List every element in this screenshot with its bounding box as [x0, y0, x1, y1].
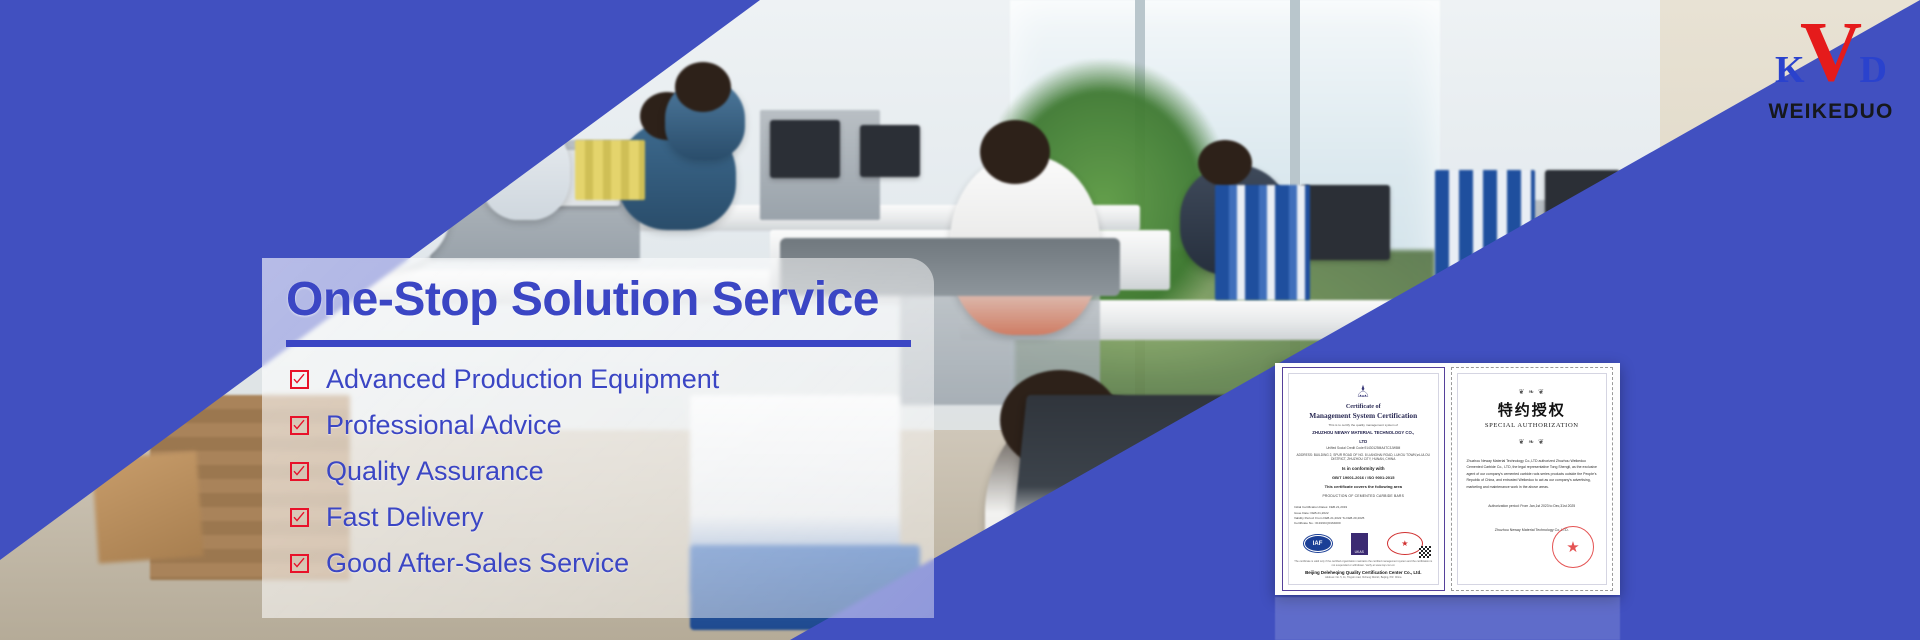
list-item: Fast Delivery [290, 500, 930, 535]
page-title: One-Stop Solution Service [286, 272, 879, 327]
certificate-fineprint: The certificate is valid only if the cer… [1294, 560, 1433, 567]
authorization-body: Zhuzhou Neway Material Technology Co.,LT… [1463, 458, 1602, 490]
certificate-group: Certificate of Management System Certifi… [1275, 363, 1620, 595]
promotional-banner: One-Stop Solution Service Advanced Produ… [0, 0, 1920, 640]
qr-code [1419, 546, 1431, 558]
authorization-period: Authorization period: From Jan,1st 2023 … [1463, 504, 1602, 508]
ukas-accreditation-mark: UKAS [1351, 533, 1368, 555]
logo-letter-k: K [1775, 48, 1805, 92]
certificate-address: ADDRESS: BUILDING 2, SPUR ROAD OF NO. 8 … [1294, 453, 1433, 462]
certificate-management-system: Certificate of Management System Certifi… [1282, 367, 1445, 591]
ornament-divider-icon: ❦ ❧ ❦ [1519, 388, 1546, 396]
ornament-divider-icon: ❦ ❧ ❦ [1519, 438, 1546, 446]
list-item: Quality Assurance [290, 454, 930, 489]
feature-label: Good After-Sales Service [326, 548, 629, 579]
logo-lettermark: V K D [1757, 10, 1905, 94]
list-item: Good After-Sales Service [290, 546, 930, 581]
checkbox-checked-icon [290, 416, 309, 435]
checkbox-checked-icon [290, 508, 309, 527]
feature-label: Fast Delivery [326, 502, 484, 533]
feature-label: Quality Assurance [326, 456, 544, 487]
certificate-reflection [1275, 597, 1620, 640]
authorization-title-cn: 特约授权 [1498, 399, 1566, 420]
star-icon: ★ [1401, 539, 1408, 548]
list-item: Professional Advice [290, 408, 930, 443]
person-head [980, 120, 1050, 184]
logo-letter-d: D [1860, 48, 1887, 92]
certificate-number: Certificate No.: 01919CQ0164000 [1294, 521, 1433, 526]
logo-wordmark: WEIKEDUO [1757, 100, 1905, 124]
certificate-conformity: Is in conformity with [1342, 466, 1385, 471]
certificate-org-line2: LTD [1359, 439, 1367, 444]
star-icon: ★ [1566, 538, 1579, 556]
checkbox-checked-icon [290, 554, 309, 573]
iaf-accreditation-mark: IAF [1304, 535, 1332, 552]
certificate-title-line2: Management System Certification [1309, 411, 1417, 420]
certificate-credit-code: Unified Social Credit Code:91430125MA4TC… [1326, 446, 1400, 450]
feature-label: Professional Advice [326, 410, 562, 441]
certificate-coverage: This certificate covers the following ar… [1325, 484, 1402, 489]
certificate-issuer: Beijing Deleheqing Quality Certification… [1305, 570, 1421, 575]
certificate-title-line1: Certificate of [1346, 403, 1381, 411]
feature-label: Advanced Production Equipment [326, 364, 719, 395]
certificate-special-authorization: ❦ ❧ ❦ 特约授权 SPECIAL AUTHORIZATION ❦ ❧ ❦ Z… [1451, 367, 1614, 591]
checkbox-checked-icon [290, 370, 309, 389]
monitor [1300, 185, 1390, 260]
sticky-notes [575, 140, 645, 200]
title-divider [286, 340, 911, 347]
monitor [770, 120, 840, 178]
certificate-subtitle: This is to certify the quality managemen… [1329, 423, 1398, 427]
certificate-org-line1: ZHUZHOU NEWAY MATERIAL TECHNOLOGY CO., [1312, 430, 1414, 435]
person-head [675, 62, 731, 112]
certificate-standard: GB/T 19001-2016 / ISO 9001:2015 [1332, 475, 1394, 480]
certification-emblem-icon [1349, 384, 1377, 399]
certificate-scope: PRODUCTION OF CEMENTED CARBIDE BARS [1322, 494, 1404, 498]
company-logo: V K D WEIKEDUO [1757, 10, 1905, 130]
checkbox-checked-icon [290, 462, 309, 481]
cnas-accreditation-mark: ★ [1387, 532, 1423, 555]
red-company-stamp-icon: ★ [1552, 526, 1594, 568]
feature-list: Advanced Production Equipment Profession… [290, 362, 930, 592]
certificate-issuer-address: Address: No. 5, 11, Tingxin road, Xichen… [1325, 576, 1401, 579]
monitor [860, 125, 920, 177]
binder-shelf [1215, 185, 1310, 300]
authorization-title-en: SPECIAL AUTHORIZATION [1485, 422, 1579, 429]
person-head [1198, 140, 1252, 186]
list-item: Advanced Production Equipment [290, 362, 930, 397]
